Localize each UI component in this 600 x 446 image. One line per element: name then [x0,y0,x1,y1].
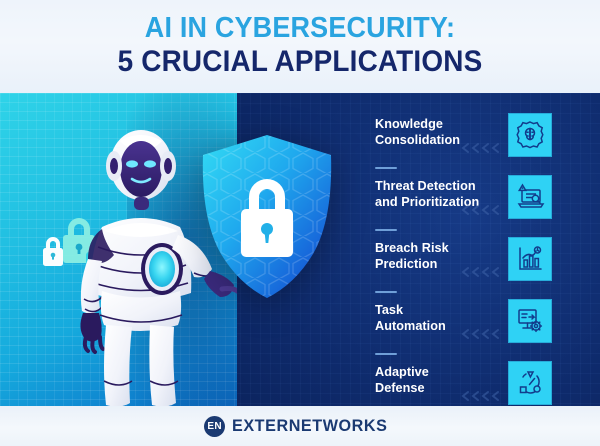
list-item[interactable]: Task Automation [372,299,592,355]
item-divider [375,167,397,169]
page-title: AI IN CYBERSECURITY: 5 CRUCIAL APPLICATI… [0,13,600,79]
list-item[interactable]: Knowledge Consolidation [372,113,592,169]
security-shield-icon [195,131,340,306]
chevron-decoration [460,265,504,283]
item-divider [375,291,397,293]
main-panel: Knowledge Consolidation [0,93,600,406]
list-item[interactable]: Adaptive Defense [372,361,592,406]
logo-wordmark: EXTERNETWORKS [232,416,387,436]
applications-list: Knowledge Consolidation [372,101,592,401]
header-band: AI IN CYBERSECURITY: 5 CRUCIAL APPLICATI… [0,0,600,93]
item-divider [375,229,397,231]
chevron-decoration [460,327,504,345]
infographic-canvas: AI IN CYBERSECURITY: 5 CRUCIAL APPLICATI… [0,0,600,446]
brand-logo[interactable]: EN EXTERNETWORKS [204,416,396,437]
item-divider [375,353,397,355]
monitor-gear-icon [508,299,552,343]
laptop-alert-icon [508,175,552,219]
footer-band: EN EXTERNETWORKS [0,406,600,446]
title-line-primary: AI IN CYBERSECURITY: [21,13,579,44]
chevron-decoration [460,203,504,221]
adaptive-cycle-icon [508,361,552,405]
brain-gear-icon [508,113,552,157]
list-item[interactable]: Threat Detection and Prioritization [372,175,592,231]
title-line-secondary: 5 CRUCIAL APPLICATIONS [21,46,579,78]
chevron-decoration [460,389,504,406]
bar-chart-trend-icon [508,237,552,281]
logo-badge-icon: EN [204,416,225,437]
chevron-decoration [460,141,504,159]
list-item[interactable]: Breach Risk Prediction [372,237,592,293]
